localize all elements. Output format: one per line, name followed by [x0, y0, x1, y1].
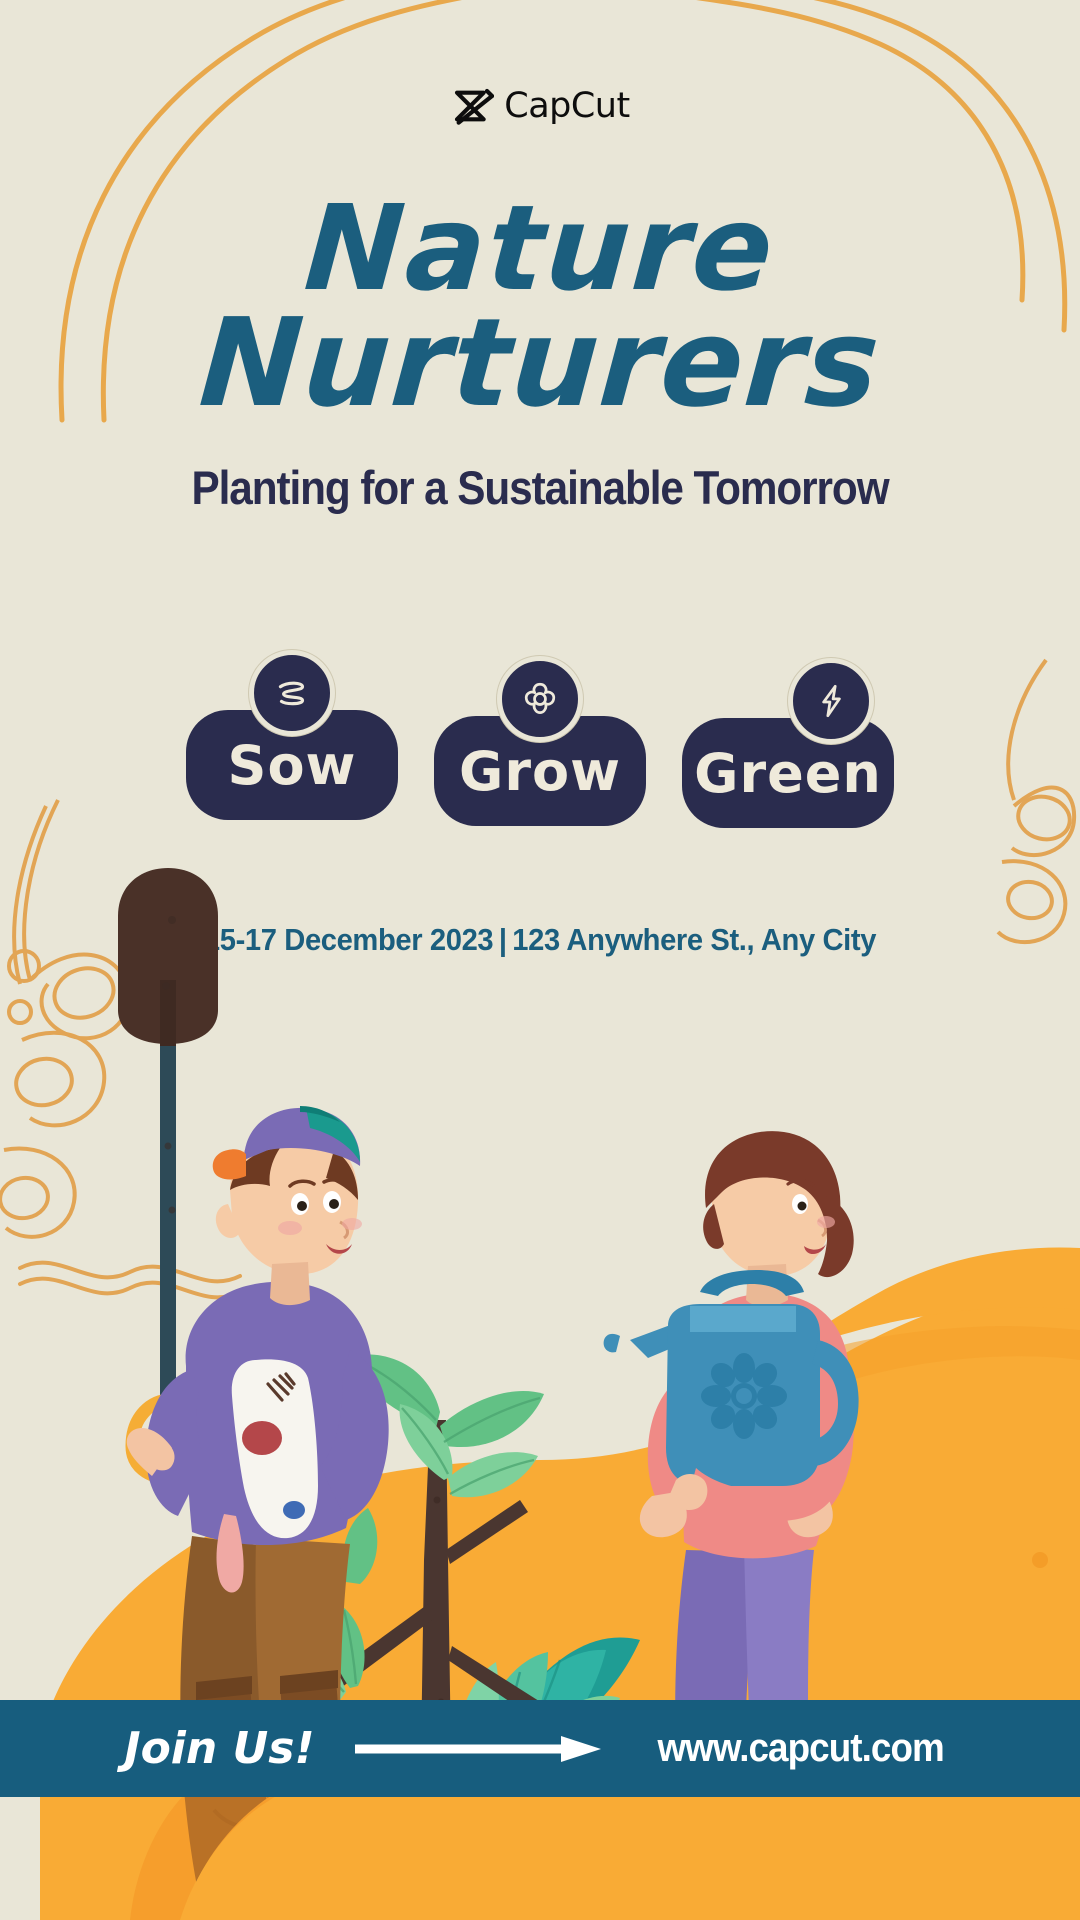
seed-scribble-icon: [271, 672, 313, 714]
keyword-pill-row: Sow Grow Green: [0, 640, 1080, 828]
headline-line-2: Nurturers: [0, 305, 1080, 422]
page-title: Nature Nurturers: [0, 192, 1080, 422]
capcut-logo: CapCut: [0, 86, 1080, 126]
footer-bar: Join Us! www.capcut.com: [0, 1700, 1080, 1797]
capcut-logo-icon: [450, 86, 494, 126]
pill-label-green: Green: [682, 718, 894, 828]
brand-name: CapCut: [504, 89, 629, 124]
seed-scribble-badge: [249, 650, 335, 736]
pill-sow[interactable]: Sow: [186, 650, 398, 820]
page-subtitle: Planting for a Sustainable Tomorrow: [54, 460, 1026, 515]
website-url[interactable]: www.capcut.com: [657, 1726, 943, 1771]
pill-green[interactable]: Green: [682, 658, 894, 828]
pill-grow[interactable]: Grow: [434, 656, 646, 826]
poster-canvas: CapCut Nature Nurturers Planting for a S…: [0, 0, 1080, 1920]
headline-line-1: Nature: [0, 192, 1080, 305]
flower-badge: [497, 656, 583, 742]
flower-icon: [519, 678, 561, 720]
join-us-label: Join Us!: [124, 1723, 314, 1774]
long-right-arrow-icon: [355, 1733, 605, 1765]
lightning-bolt-badge: [788, 658, 874, 744]
lightning-bolt-icon: [810, 680, 852, 722]
